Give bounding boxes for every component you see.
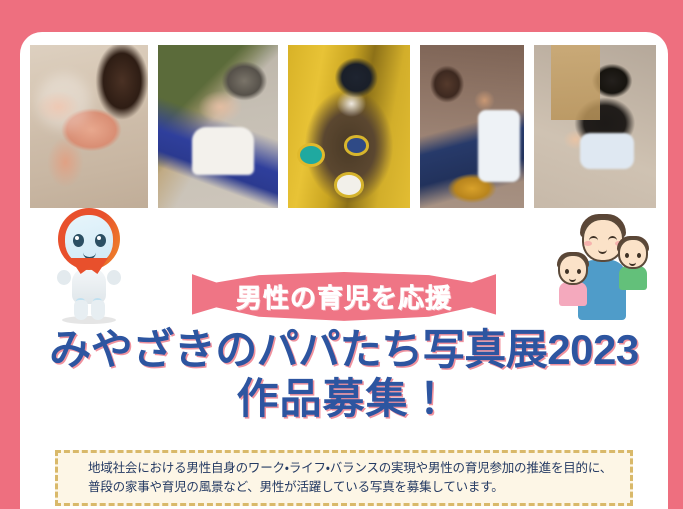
description-box: 地域社会における男性自身のワーク・ライフ・バランスの実現や男性の育児参加の推進を… [55,450,633,506]
photo-3-toy-white [337,175,361,195]
poster-root: 男性の育児を応援 みやざきのパパたち写真展2023 作品募集！ 地域社会における… [0,0,683,509]
photo-1-image [30,45,148,208]
mascot-shadow [62,316,116,324]
gallery-photo-3 [288,45,410,208]
child-right-eye-right [637,253,641,258]
photo-3-toy-teal [300,146,322,164]
poster-card: 男性の育児を応援 みやざきのパパたち写真展2023 作品募集！ 地域社会における… [20,32,668,509]
child-left-eye-right [577,269,581,274]
mascot-leg-left [74,300,88,320]
mascot-character [52,208,126,324]
child-right-body [619,266,647,290]
photo-gallery [30,45,658,208]
child-left [556,254,590,306]
photo-2-shirt [192,127,254,176]
page-title: みやざきのパパたち写真展2023 作品募集！ [20,328,668,421]
child-left-eye-left [565,269,569,274]
gallery-photo-1 [30,45,148,208]
photo-5-door [551,45,600,120]
photo-1-highlight [37,74,91,129]
ribbon-label: 男性の育児を応援 [192,271,496,323]
gallery-photo-5 [534,45,656,208]
mascot-arm-left [57,270,71,285]
mascot-leg-right [91,300,105,320]
mascot-eye-right [95,234,106,247]
mascot-arm-right [107,270,121,285]
father-blush-left [584,241,592,246]
photo-5-baby-clothes [580,133,634,169]
description-text: 地域社会における男性自身のワーク・ライフ・バランスの実現や男性の育児参加の推進を… [58,459,628,498]
gallery-photo-4 [420,45,524,208]
child-left-body [559,282,587,306]
photo-3-toy-blue [347,138,367,153]
child-right-eye-left [625,253,629,258]
gallery-photo-2 [158,45,278,208]
ribbon-banner: 男性の育児を応援 [192,271,496,323]
mascot-eye-left [73,234,84,247]
title-line-2: 作品募集！ [20,377,668,422]
child-right [616,238,650,290]
photo-4-pajama [478,110,520,182]
title-line-1: みやざきのパパたち写真展2023 [20,328,668,373]
family-illustration [556,208,658,320]
